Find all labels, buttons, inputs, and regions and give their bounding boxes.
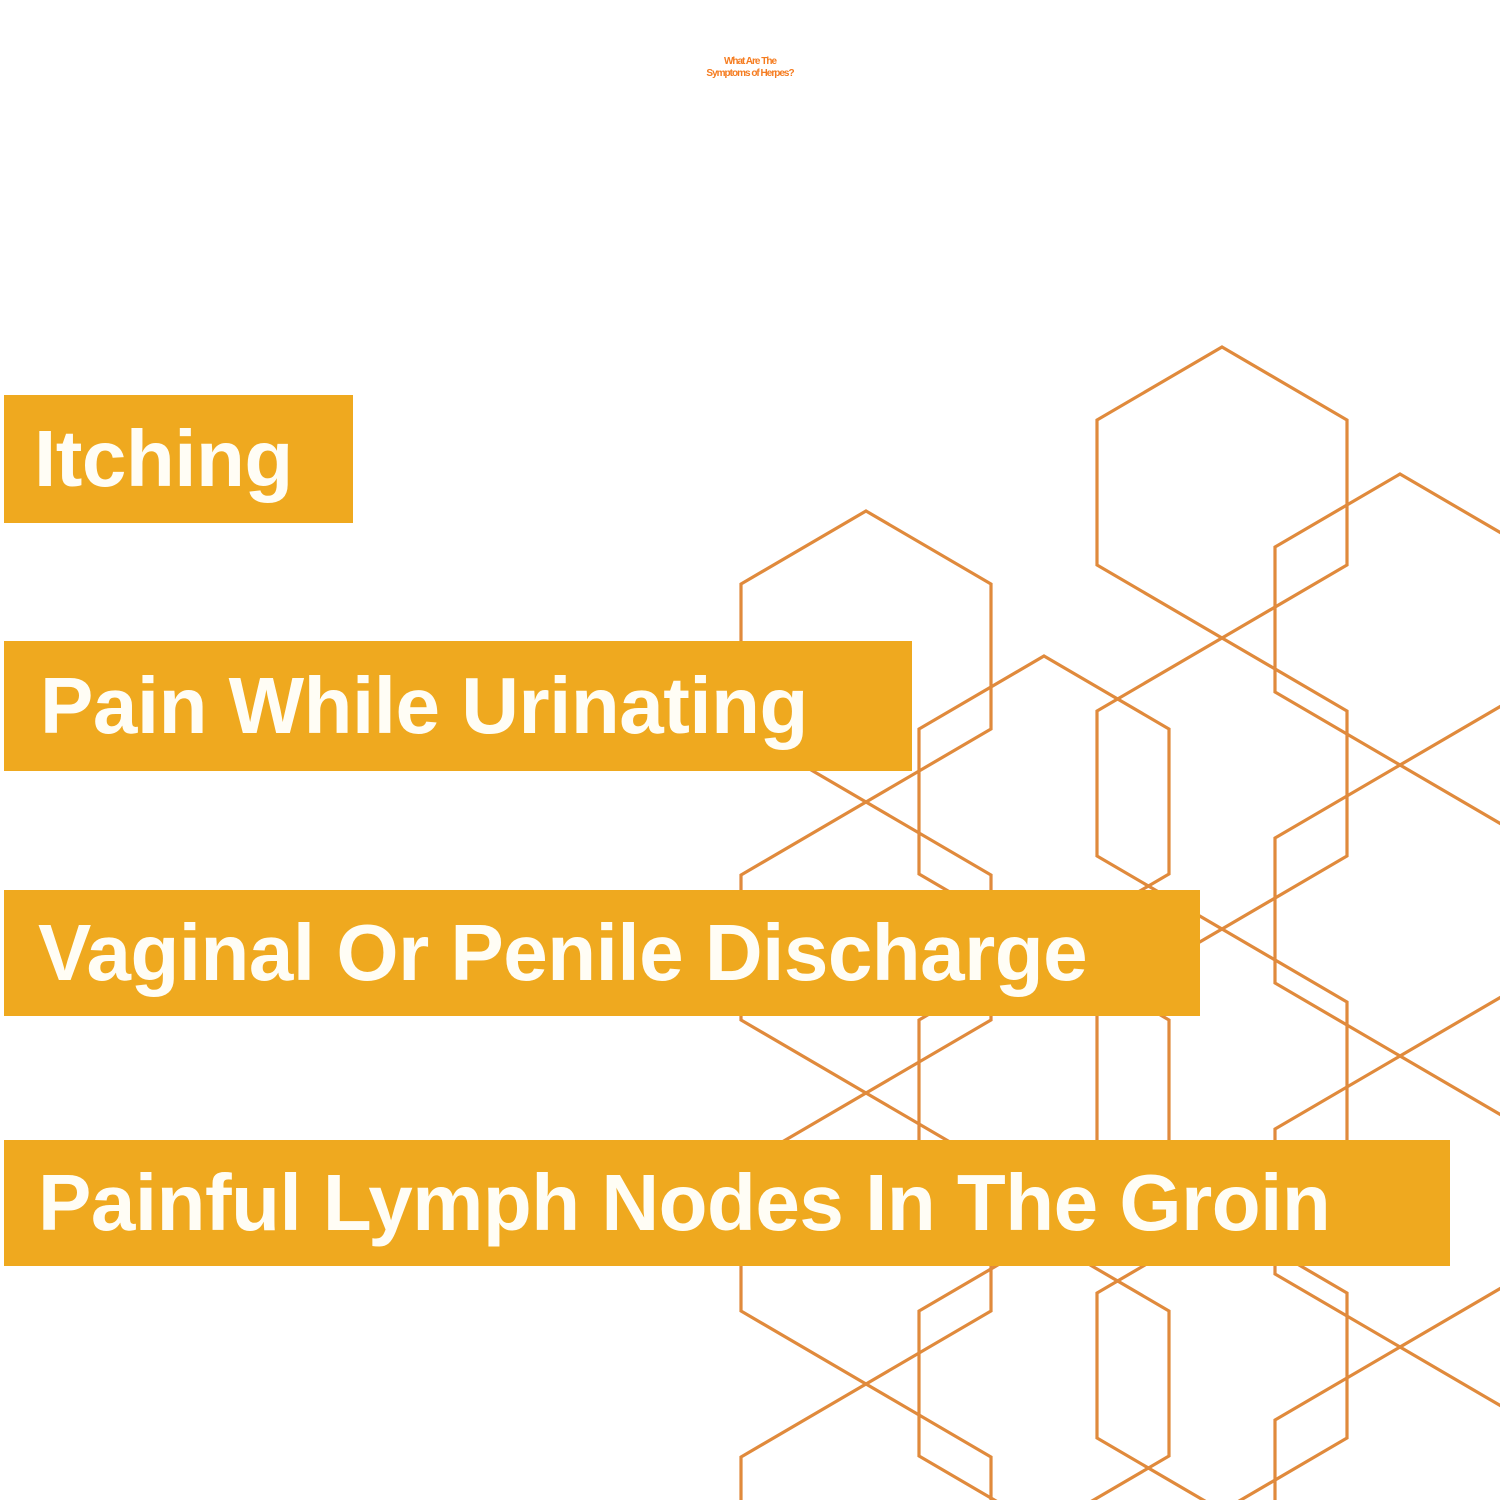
symptom-bar-1: Itching [4,395,353,523]
page-title: What Are The Symptoms of Herpes? [0,56,1500,80]
title-line-1: What Are The [0,56,1500,68]
symptom-bar-2: Pain While Urinating [4,641,912,771]
symptom-label-1: Itching [34,419,293,499]
hexagon-outline [919,1238,1169,1500]
symptom-label-2: Pain While Urinating [40,666,808,746]
hexagon-outline [1275,765,1500,1056]
hexagon-outline [1097,347,1347,638]
symptom-label-3: Vaginal Or Penile Discharge [38,913,1087,993]
hexagon-outline [741,1384,991,1500]
symptom-label-4: Painful Lymph Nodes In The Groin [38,1163,1330,1243]
title-line-2: Symptoms of Herpes? [0,68,1500,80]
symptom-bar-3: Vaginal Or Penile Discharge [4,890,1200,1016]
infographic-canvas: What Are The Symptoms of Herpes? Itching… [0,0,1500,1500]
hexagon-outline [1097,638,1347,929]
hexagon-outline [1275,1347,1500,1500]
hexagon-outline [1275,474,1500,765]
symptom-bar-4: Painful Lymph Nodes In The Groin [4,1140,1450,1266]
